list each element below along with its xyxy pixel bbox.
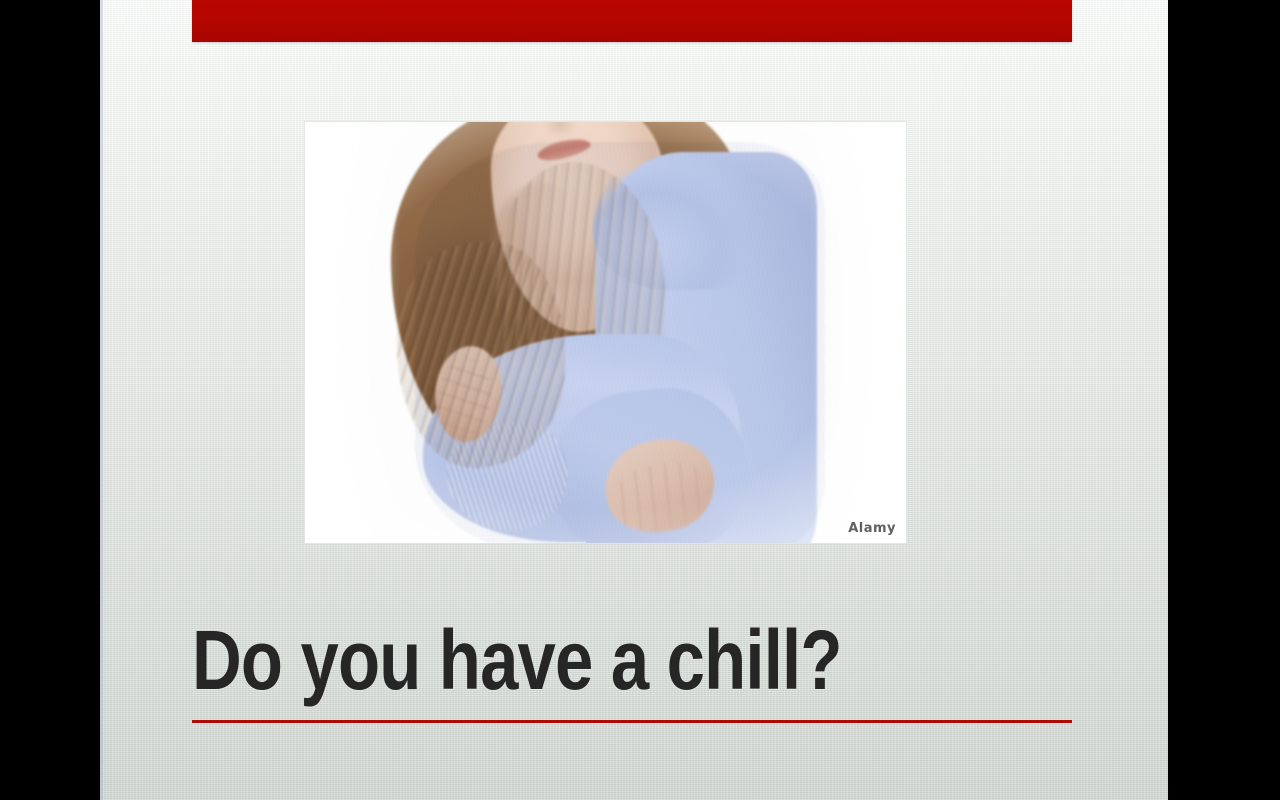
photo-hair-wave-left [397,242,565,468]
slide-canvas[interactable]: Alamy Do you have a chill? [100,0,1168,800]
stock-photo-watermark: Alamy [848,521,896,536]
page-title: Do you have a chill? [192,612,930,708]
title-underline [192,720,1072,723]
red-banner [192,0,1072,42]
letterbox-right [1168,0,1280,800]
photo-stage [305,122,906,543]
slide-photo[interactable]: Alamy [305,122,906,543]
presentation-viewport: Alamy Do you have a chill? [0,0,1280,800]
letterbox-left [0,0,100,800]
